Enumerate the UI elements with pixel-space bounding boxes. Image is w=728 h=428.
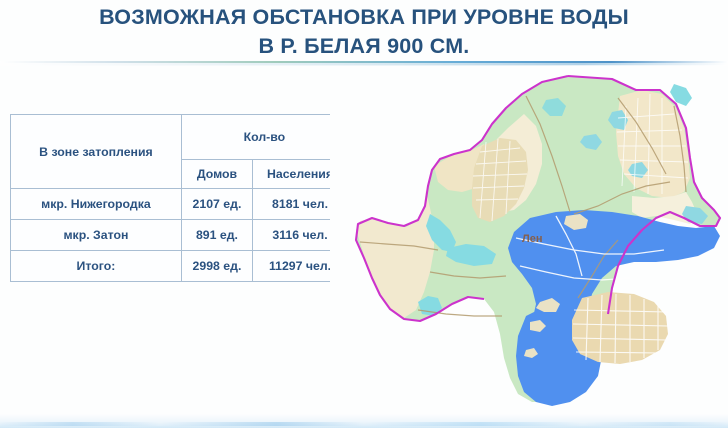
header-zone: В зоне затопления	[11, 115, 182, 189]
map-svg: Лен	[330, 66, 728, 418]
row-homes: 2998 ед.	[181, 251, 252, 282]
footer-accent-speckle	[0, 422, 728, 426]
table-row-total: Итого: 2998 ед. 11297 чел.	[11, 251, 348, 282]
map-label-group: Лен	[522, 233, 542, 245]
presentation-slide: ВОЗМОЖНАЯ ОБСТАНОВКА ПРИ УРОВНЕ ВОДЫ В Р…	[0, 0, 728, 428]
row-zone: Итого:	[11, 251, 182, 282]
title-line-1: ВОЗМОЖНАЯ ОБСТАНОВКА ПРИ УРОВНЕ ВОДЫ	[0, 4, 728, 31]
flood-zone-map: Лен	[330, 66, 728, 418]
row-zone: мкр. Затон	[11, 220, 182, 251]
table-row: мкр. Затон 891 ед. 3116 чел.	[11, 220, 348, 251]
row-zone: мкр. Нижегородка	[11, 189, 182, 220]
table-row: мкр. Нижегородка 2107 ед. 8181 чел.	[11, 189, 348, 220]
row-homes: 891 ед.	[181, 220, 252, 251]
row-homes: 2107 ед.	[181, 189, 252, 220]
table-header-row-1: В зоне затопления Кол-во	[11, 115, 348, 160]
header-count: Кол-во	[181, 115, 347, 160]
header-homes: Домов	[181, 160, 252, 189]
title-line-2: В Р. БЕЛАЯ 900 СМ.	[0, 33, 728, 60]
footer-accent	[0, 414, 728, 428]
flood-statistics-table: В зоне затопления Кол-во Домов Населения…	[10, 114, 348, 282]
page-title: ВОЗМОЖНАЯ ОБСТАНОВКА ПРИ УРОВНЕ ВОДЫ В Р…	[0, 4, 728, 60]
map-label-len: Лен	[522, 233, 542, 245]
